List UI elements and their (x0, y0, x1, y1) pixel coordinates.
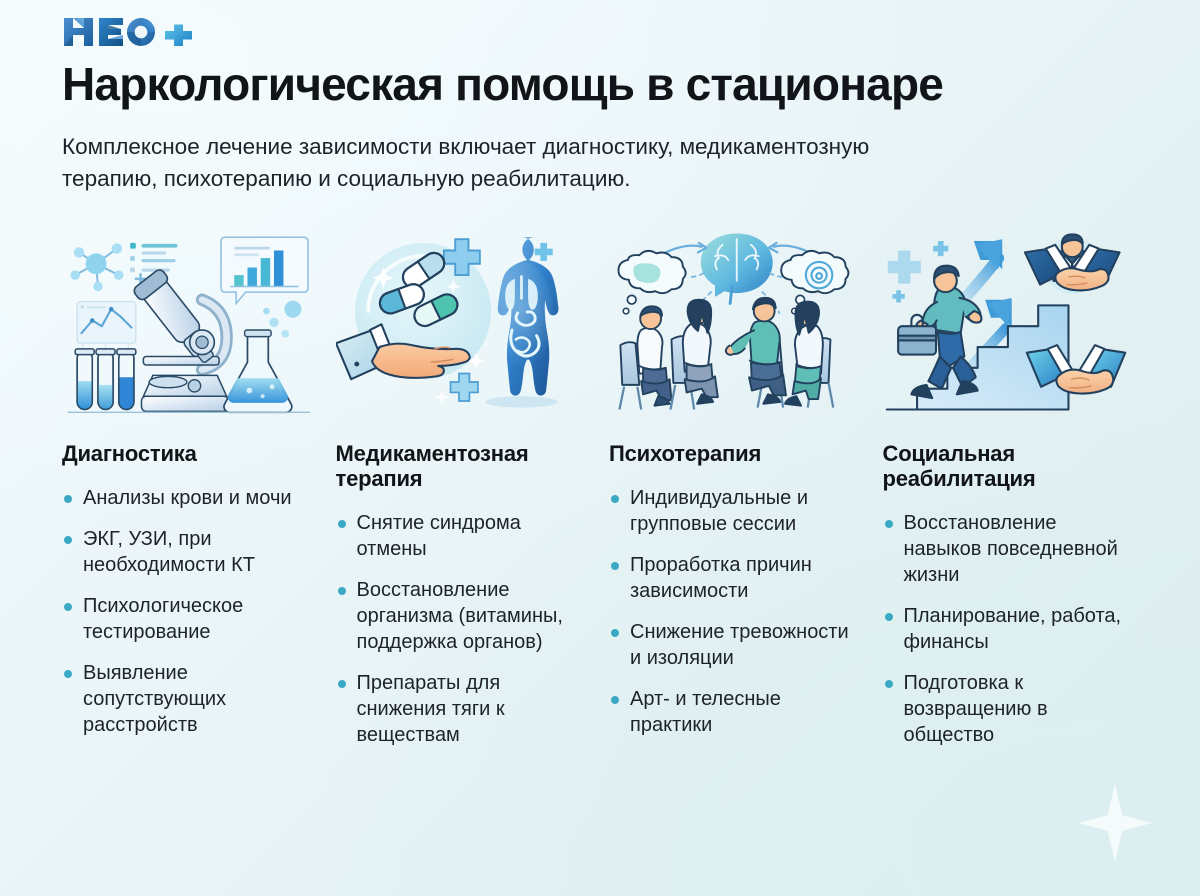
list-item: Подготовка к возвращению в общество (883, 670, 1139, 748)
group-therapy-circle-illustration-icon (609, 221, 865, 421)
list-item: Психологическое тестирование (62, 593, 318, 645)
list-item: Анализы крови и мочи (62, 485, 318, 511)
column-social-rehab: Социальная реабилитация Восстановление н… (883, 221, 1139, 748)
column-medication: Медикаментозная терапия Снятие синдрома … (336, 221, 592, 748)
column-heading: Психотерапия (609, 441, 865, 467)
logo-neo-plus-icon (62, 15, 202, 49)
column-heading: Диагностика (62, 441, 318, 467)
column-diagnostics: Диагностика Анализы крови и мочи ЭКГ, УЗ… (62, 221, 318, 748)
list-item: Восстановление организма (витамины, подд… (336, 577, 592, 655)
list-item: Планирование, работа, финансы (883, 603, 1139, 655)
brand-logo (62, 0, 1138, 52)
hand-with-pills-and-body-illustration-icon (336, 221, 592, 421)
column-psychotherapy: Психотерапия Индивидуальные и групповые … (609, 221, 865, 748)
bullet-list-diagnostics: Анализы крови и мочи ЭКГ, УЗИ, при необх… (62, 485, 318, 738)
list-item: Проработка причин зависимости (609, 552, 865, 604)
service-columns: Диагностика Анализы крови и мочи ЭКГ, УЗ… (62, 221, 1138, 748)
list-item: Арт- и телесные практики (609, 686, 865, 738)
column-heading: Медикаментозная терапия (336, 441, 592, 492)
bullet-list-psychotherapy: Индивидуальные и групповые сессии Прораб… (609, 485, 865, 738)
list-item: ЭКГ, УЗИ, при необходимости КТ (62, 526, 318, 578)
list-item: Восстановление навыков повседневной жизн… (883, 510, 1139, 588)
bullet-list-social-rehab: Восстановление навыков повседневной жизн… (883, 510, 1139, 748)
column-heading: Социальная реабилитация (883, 441, 1139, 492)
career-stairs-and-handshake-illustration-icon (883, 221, 1139, 421)
page-title: Наркологическая помощь в стационаре (62, 60, 1138, 109)
bullet-list-medication: Снятие синдрома отмены Восстановление ор… (336, 510, 592, 748)
list-item: Препараты для снижения тяги к веществам (336, 670, 592, 748)
page-subtitle: Комплексное лечение зависимости включает… (62, 131, 942, 195)
list-item: Индивидуальные и групповые сессии (609, 485, 865, 537)
sparkle-decoration-icon (1078, 784, 1152, 862)
list-item: Выявление сопутствующих расстройств (62, 660, 318, 738)
list-item: Снятие синдрома отмены (336, 510, 592, 562)
list-item: Снижение тревожности и изоляции (609, 619, 865, 671)
infographic-page: Наркологическая помощь в стационаре Комп… (0, 0, 1200, 896)
laboratory-microscope-illustration-icon (62, 221, 318, 421)
